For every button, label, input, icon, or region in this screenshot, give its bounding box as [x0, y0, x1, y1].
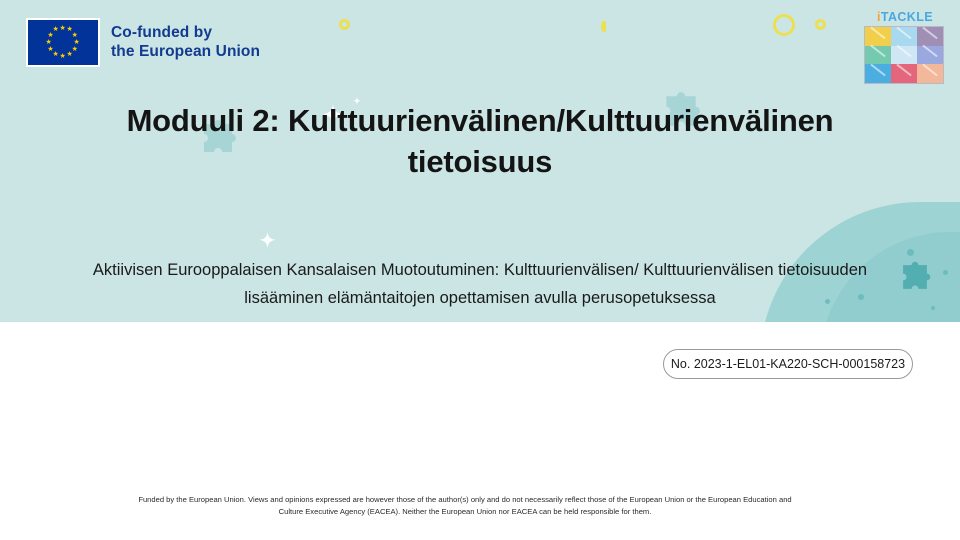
eu-star-icon: ★	[67, 51, 73, 58]
puzzle-piece-2	[891, 27, 917, 46]
blob-dot	[931, 306, 935, 310]
project-number-badge: No. 2023-1-EL01-KA220-SCH-000158723	[663, 349, 913, 379]
puzzle-piece-4	[865, 46, 891, 65]
eu-cofunded-label: Co-funded by the European Union	[111, 24, 260, 62]
eu-disclaimer: Funded by the European Union. Views and …	[135, 494, 795, 518]
presentation-slide: ★★★★★★★★★★★★ Co-funded by the European U…	[0, 0, 960, 540]
puzzle-piece-3	[917, 27, 943, 46]
eu-star-icon: ★	[46, 39, 52, 46]
eu-cofunded-logo: ★★★★★★★★★★★★ Co-funded by the European U…	[26, 18, 260, 67]
eu-star-icon: ★	[53, 26, 59, 33]
puzzle-piece-6	[917, 46, 943, 65]
eu-star-icon: ★	[60, 25, 66, 32]
yellow-ring-small-left	[339, 19, 350, 30]
eu-flag-icon: ★★★★★★★★★★★★	[26, 18, 100, 67]
blob-dot	[943, 270, 948, 275]
eu-star-icon: ★	[74, 39, 80, 46]
puzzle-piece-8	[891, 64, 917, 83]
slide-title: Moduuli 2: Kulttuurienvälinen/Kulttuurie…	[60, 100, 900, 182]
itackle-puzzle-grid	[864, 26, 944, 84]
puzzle-piece-9	[917, 64, 943, 83]
itackle-wordmark-rest: TACKLE	[881, 10, 933, 24]
puzzle-piece-7	[865, 64, 891, 83]
yellow-ring-small-right	[815, 19, 826, 30]
itackle-logo: iTACKLE	[864, 10, 946, 84]
eu-star-icon: ★	[60, 53, 66, 60]
blob-dot	[907, 249, 914, 256]
itackle-wordmark: iTACKLE	[864, 10, 946, 24]
yellow-ring-large	[773, 14, 795, 36]
yellow-halfmoon	[601, 21, 606, 32]
slide-subtitle: Aktiivisen Eurooppalaisen Kansalaisen Mu…	[55, 257, 905, 312]
eu-star-icon: ★	[47, 46, 53, 53]
partner-logos-row: HELLENIC REPUBLIC National and Kapodistr…	[0, 388, 960, 468]
eu-star-icon: ★	[72, 32, 78, 39]
sparkle-icon-middle	[259, 232, 276, 249]
puzzle-piece-5	[891, 46, 917, 65]
puzzle-piece-1	[865, 27, 891, 46]
hero-band: ★★★★★★★★★★★★ Co-funded by the European U…	[0, 0, 960, 322]
